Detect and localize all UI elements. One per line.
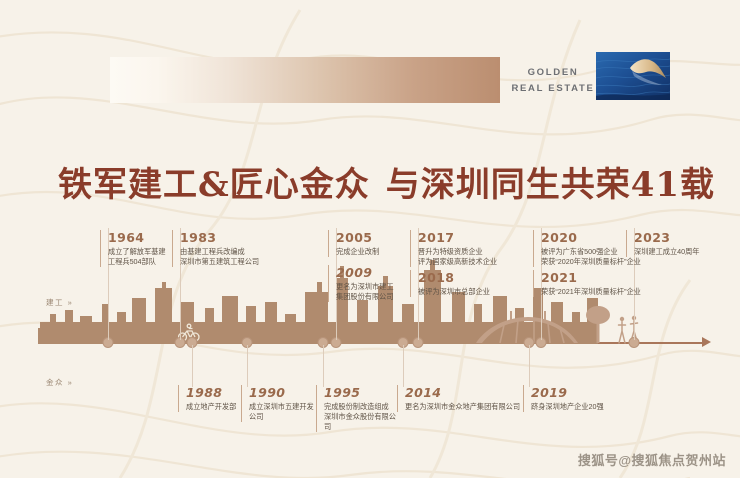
entry-year: 2019 [531, 385, 633, 400]
side-label-jiangong: 建工 » [46, 297, 73, 308]
header-gradient-band [110, 57, 500, 103]
park-and-bridge-illustration [470, 303, 650, 345]
timeline-entry-1995[interactable]: 1995 完成股份制改造组成 深圳市金众股份有限公司 [316, 385, 400, 432]
brand-logo: GOLDEN REAL ESTATE [512, 60, 594, 100]
entry-year: 1995 [324, 385, 400, 400]
brand-name-line2: REAL ESTATE [511, 83, 594, 94]
timeline-arrow-icon [702, 337, 711, 347]
timeline-entry-2014[interactable]: 2014 更名为深圳市金众地产集团有限公司 [397, 385, 523, 412]
slide-canvas: GOLDEN REAL ESTATE [0, 0, 740, 478]
page-title-part2: 与深圳同生共荣41载 [386, 165, 715, 205]
watermark-text: 搜狐号@搜狐焦点贺州站 [578, 450, 726, 469]
entry-description: 跻身深圳地产企业20强 [531, 402, 633, 412]
entry-year: 1990 [249, 385, 319, 400]
timeline-tick [403, 345, 404, 387]
page-title: 铁军建工&匠心金众与深圳同生共荣41载 [58, 157, 715, 206]
timeline-tick [247, 345, 248, 387]
entry-description: 深圳建工成立40周年 [634, 247, 731, 257]
entry-description: 荣获“2021年深圳质量标杆”企业 [541, 287, 643, 297]
entry-description: 由基建工程兵改编成 深圳市第五建筑工程公司 [180, 247, 322, 267]
entry-description: 更名为深圳市金众地产集团有限公司 [405, 402, 523, 412]
timeline-entry-1983[interactable]: 1983 由基建工程兵改编成 深圳市第五建筑工程公司 [172, 230, 322, 267]
timeline-entry-1988[interactable]: 1988 成立地产开发部 [178, 385, 240, 412]
timeline: 1964 成立了解放军基建 工程兵504部队 1983 由基建工程兵改编成 深圳… [0, 225, 740, 440]
timeline-tick [192, 345, 193, 387]
timeline-entry-2019[interactable]: 2019 跻身深圳地产企业20强 [523, 385, 633, 412]
timeline-tick [323, 345, 324, 387]
ocean-wave-photo [596, 52, 670, 100]
entry-year: 2021 [541, 270, 643, 285]
entry-year: 2014 [405, 385, 523, 400]
entry-description: 成立地产开发部 [186, 402, 240, 412]
brand-name-line1: GOLDEN [528, 67, 579, 78]
timeline-tick [529, 345, 530, 387]
page-title-part1: 铁军建工&匠心金众 [58, 165, 370, 205]
timeline-entry-1990[interactable]: 1990 成立深圳市五建开发公司 [241, 385, 319, 422]
entry-year: 2023 [634, 230, 731, 245]
entry-year: 1988 [186, 385, 240, 400]
entry-description: 完成股份制改造组成 深圳市金众股份有限公司 [324, 402, 400, 432]
entry-description: 成立深圳市五建开发公司 [249, 402, 319, 422]
timeline-entry-2021[interactable]: 2021 荣获“2021年深圳质量标杆”企业 [533, 270, 643, 297]
entry-year: 1983 [180, 230, 322, 245]
timeline-entry-2023[interactable]: 2023 深圳建工成立40周年 [626, 230, 731, 257]
side-label-jinzhong: 金众 » [46, 377, 73, 388]
